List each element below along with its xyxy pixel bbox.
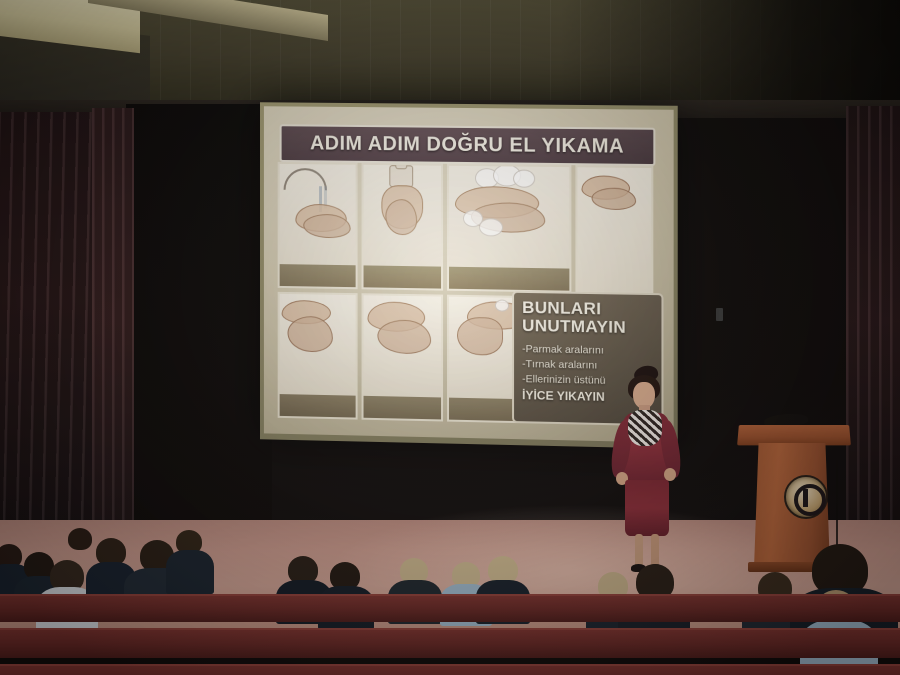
seat-row[interactable] — [0, 664, 900, 675]
auditorium-scene: ADIM ADIM DOĞRU EL YIKAMA — [0, 0, 900, 675]
wall-switch-icon[interactable] — [716, 308, 723, 321]
hands-under-faucet-icon — [280, 164, 356, 265]
stage-curtain-dark — [126, 104, 272, 534]
lathering-hands-icon — [449, 166, 569, 269]
seat-row[interactable] — [0, 594, 900, 622]
podium-top-surface — [737, 425, 851, 445]
notebox-title-line-2: UNUTMAYIN — [522, 317, 653, 337]
audience-body — [166, 550, 214, 594]
rinsing-hands-icon — [577, 167, 651, 292]
step-panel-4 — [575, 165, 653, 294]
step-panel-3 — [447, 164, 571, 293]
audience-head — [68, 528, 92, 550]
interlaced-fingers-icon — [364, 295, 441, 397]
seat-row[interactable] — [0, 628, 900, 658]
stage-curtain-right — [846, 106, 900, 536]
panel-caption-band — [280, 264, 356, 287]
panel-caption-band — [364, 265, 441, 288]
step-panel-1 — [278, 162, 358, 289]
slide-title: ADIM ADIM DOĞRU EL YIKAMA — [280, 124, 656, 166]
ceiling-shadow-gradient — [560, 0, 900, 100]
presenter-scarf — [628, 410, 662, 446]
step-panel-6 — [278, 292, 358, 420]
step-panel-7 — [362, 293, 443, 421]
emblem-glyph — [803, 489, 808, 507]
rubbing-palms-icon — [280, 294, 356, 396]
panel-caption-band — [280, 394, 356, 418]
soap-dispenser-hand-icon — [364, 165, 441, 267]
step-panel-2 — [362, 163, 443, 291]
panel-caption-band — [449, 267, 569, 291]
emblem-ring — [794, 484, 826, 516]
institutional-seal-emblem — [784, 475, 828, 519]
stage-curtain-left-fold — [92, 108, 134, 528]
panel-caption-band — [364, 396, 441, 420]
audience-area — [0, 520, 900, 675]
